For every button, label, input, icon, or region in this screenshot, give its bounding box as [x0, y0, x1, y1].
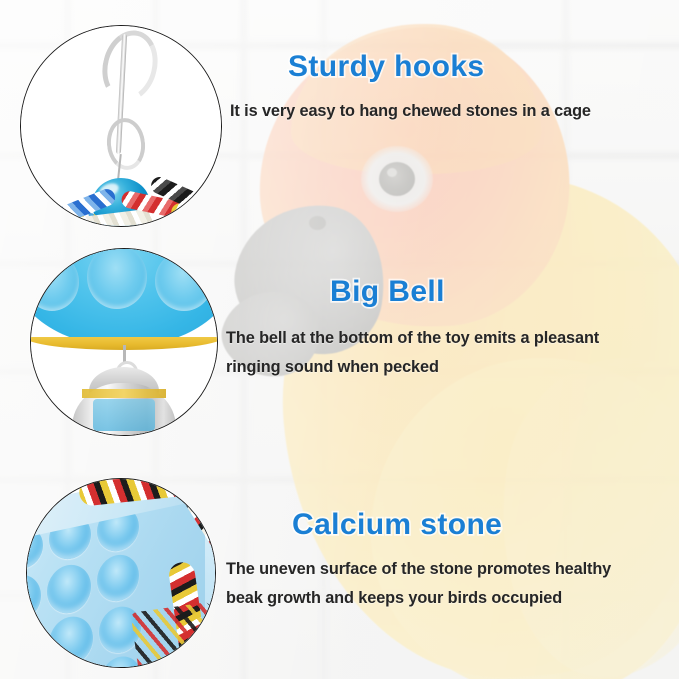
feature-photo-big-bell — [30, 248, 218, 436]
feature-heading: Sturdy hooks — [288, 50, 591, 83]
rope-cluster — [21, 162, 221, 227]
feature-text-sturdy-hooks: Sturdy hooks It is very easy to hang che… — [230, 50, 591, 126]
stone-dimple — [101, 654, 141, 668]
feature-photo-calcium-stone — [26, 478, 216, 668]
hook-top-curve-icon — [95, 25, 165, 107]
stone-dimple — [26, 572, 41, 623]
rope-strand — [170, 202, 222, 227]
feature-description: It is very easy to hang chewed stones in… — [230, 97, 591, 126]
infographic-canvas: Sturdy hooks It is very easy to hang che… — [0, 0, 679, 679]
feature-photo-sturdy-hooks — [20, 25, 222, 227]
bell-closeup-photo — [31, 249, 217, 435]
feature-heading: Calcium stone — [292, 508, 624, 541]
feature-heading: Big Bell — [330, 275, 618, 308]
feature-text-calcium-stone: Calcium stone The uneven surface of the … — [226, 508, 624, 613]
stone-dimple — [47, 562, 91, 615]
stone-dimple — [49, 614, 93, 667]
stone-dimple — [97, 552, 139, 603]
stone-dimple — [155, 251, 213, 311]
feature-description: The bell at the bottom of the toy emits … — [226, 324, 618, 382]
stone-dimple — [30, 253, 79, 311]
stone-dimple — [87, 248, 147, 309]
bell-gold-band — [82, 389, 166, 398]
calcium-stone-underside — [30, 248, 218, 347]
feature-text-big-bell: Big Bell The bell at the bottom of the t… — [226, 275, 618, 382]
hook-closeup-photo — [21, 26, 221, 226]
stone-dimple — [26, 624, 43, 668]
feature-description: The uneven surface of the stone promotes… — [226, 555, 624, 613]
bell-blue-reflection — [93, 399, 155, 431]
rope-frayed-ends — [131, 602, 216, 668]
calcium-stone-closeup-photo — [27, 479, 215, 667]
